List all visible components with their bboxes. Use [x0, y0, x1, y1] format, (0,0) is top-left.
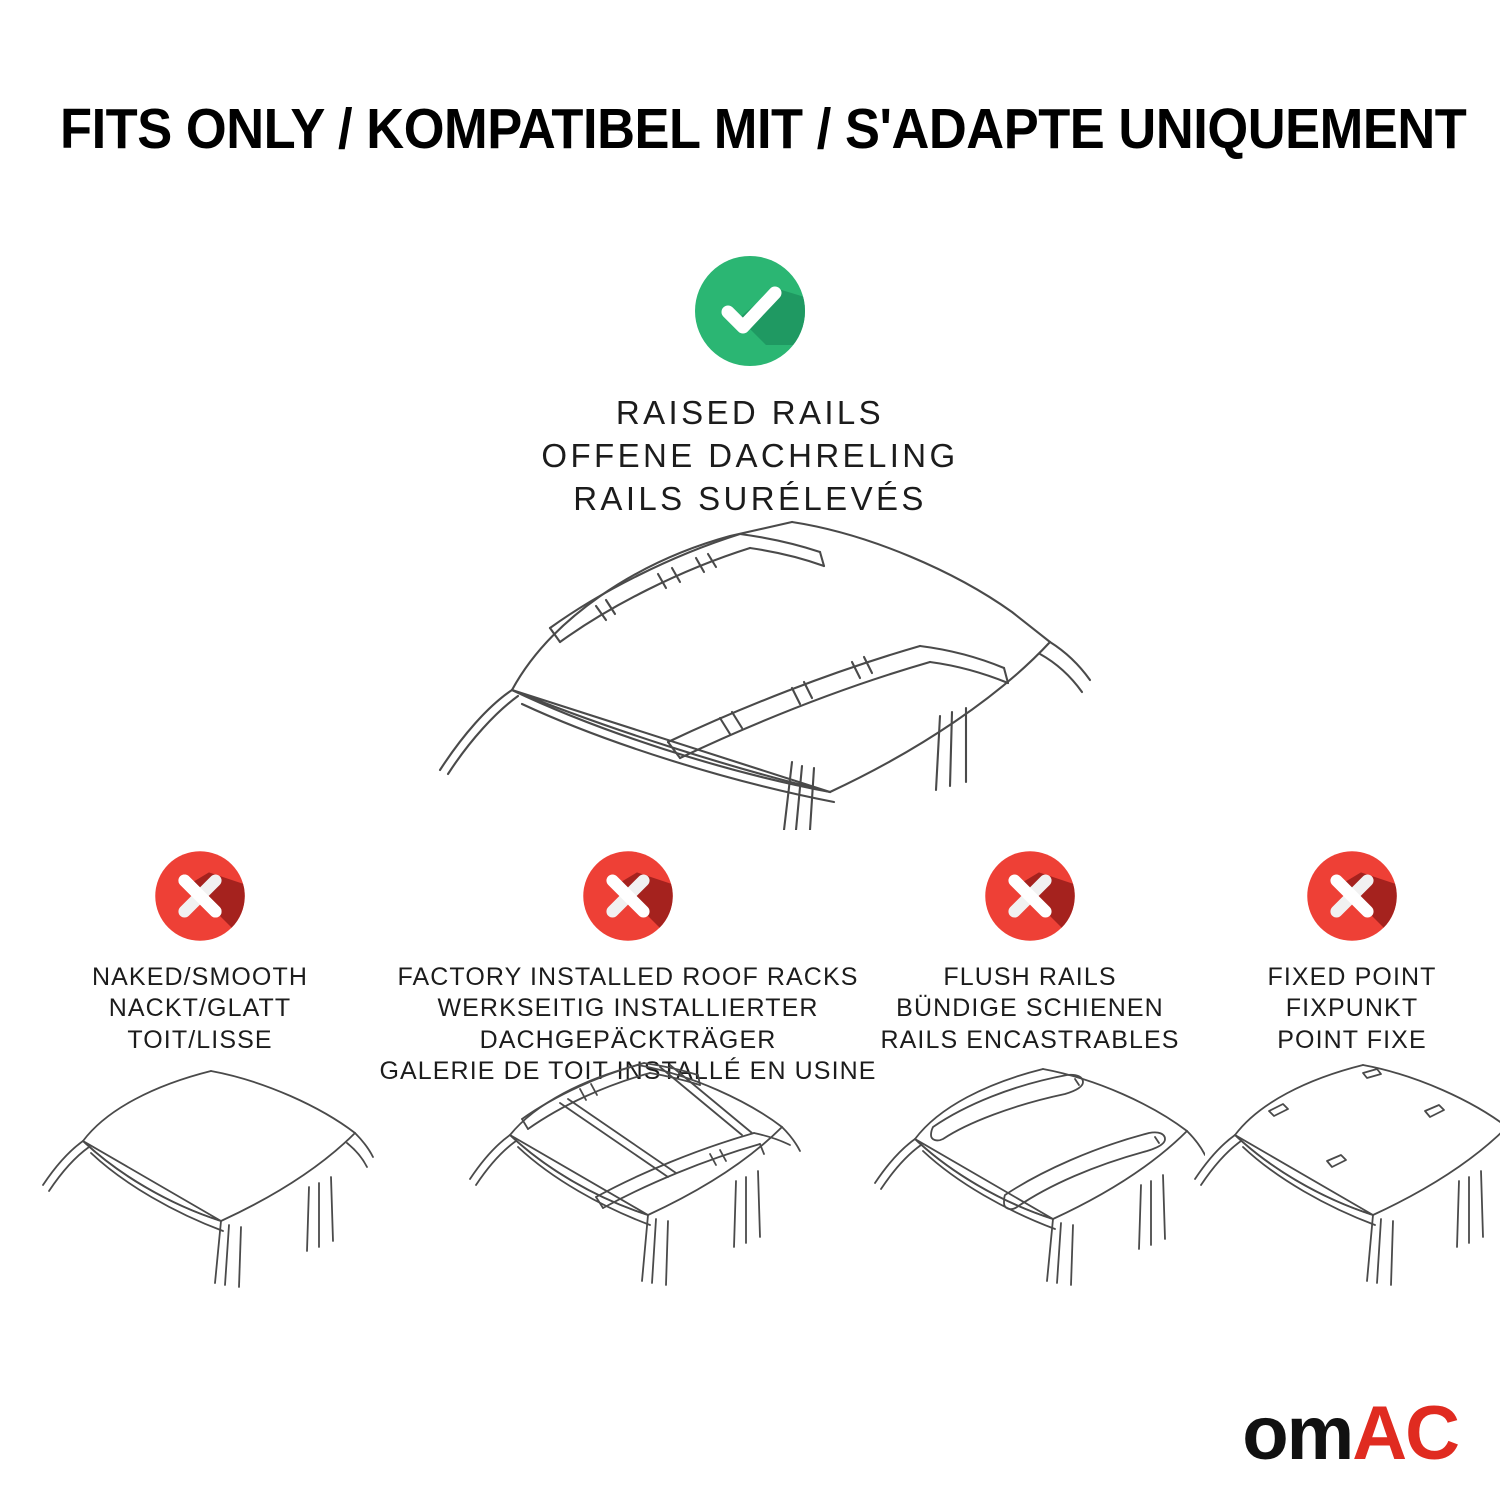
label-line: NAKED/SMOOTH — [92, 962, 308, 993]
label-line: TOIT/LISSE — [92, 1025, 308, 1056]
compatibility-infographic: FITS ONLY / KOMPATIBEL MIT / S'ADAPTE UN… — [0, 0, 1500, 1500]
incompatible-row: NAKED/SMOOTH NACKT/GLATT TOIT/LISSE FACT… — [0, 848, 1500, 1087]
incompatible-illustrations — [0, 1055, 1500, 1305]
label-line: POINT FIXE — [1267, 1025, 1436, 1056]
car-roof-fixed-point-diagram — [1187, 1055, 1500, 1295]
incompatible-labels: FIXED POINT FIXPUNKT POINT FIXE — [1267, 962, 1436, 1056]
compatible-badge-wrap — [0, 252, 1500, 370]
label-line: FIXED POINT — [1267, 962, 1436, 993]
label-line: FIXPUNKT — [1267, 993, 1436, 1024]
incompatible-item-factory-roof-racks: FACTORY INSTALLED ROOF RACKS WERKSEITIG … — [400, 848, 856, 1087]
x-circle-icon — [152, 848, 248, 944]
label-line: BÜNDIGE SCHIENEN — [880, 993, 1179, 1024]
label-line: WERKSEITIG INSTALLIERTER — [379, 993, 876, 1024]
car-roof-naked-smooth-diagram — [25, 1055, 375, 1295]
check-circle-icon — [691, 252, 809, 370]
car-roof-raised-rails-diagram — [400, 500, 1100, 830]
incompatible-labels: FLUSH RAILS BÜNDIGE SCHIENEN RAILS ENCAS… — [880, 962, 1179, 1056]
label-line: FLUSH RAILS — [880, 962, 1179, 993]
brand-logo: omAC — [1242, 1396, 1458, 1472]
label-line: NACKT/GLATT — [92, 993, 308, 1024]
illustration-cell — [0, 1055, 400, 1305]
x-circle-icon — [1304, 848, 1400, 944]
label-line: FACTORY INSTALLED ROOF RACKS — [379, 962, 876, 993]
compatible-label-de: OFFENE DACHRELING — [0, 435, 1500, 478]
incompatible-item-naked-smooth: NAKED/SMOOTH NACKT/GLATT TOIT/LISSE — [0, 848, 400, 1056]
compatible-illustration — [400, 500, 1100, 830]
x-circle-icon — [580, 848, 676, 944]
page-title: FITS ONLY / KOMPATIBEL MIT / S'ADAPTE UN… — [60, 100, 1440, 160]
incompatible-item-flush-rails: FLUSH RAILS BÜNDIGE SCHIENEN RAILS ENCAS… — [856, 848, 1204, 1056]
label-line: RAILS ENCASTRABLES — [880, 1025, 1179, 1056]
logo-text-accent: AC — [1352, 1396, 1458, 1472]
header: FITS ONLY / KOMPATIBEL MIT / S'ADAPTE UN… — [0, 100, 1500, 160]
illustration-cell — [400, 1055, 856, 1305]
x-circle-icon — [982, 848, 1078, 944]
illustration-cell — [1204, 1055, 1500, 1305]
car-roof-factory-racks-diagram — [448, 1055, 808, 1295]
car-roof-flush-rails-diagram — [855, 1055, 1205, 1295]
logo-text-dark: om — [1242, 1396, 1352, 1472]
compatible-label-en: RAISED RAILS — [0, 392, 1500, 435]
compatible-section: RAISED RAILS OFFENE DACHRELING RAILS SUR… — [0, 252, 1500, 521]
incompatible-item-fixed-point: FIXED POINT FIXPUNKT POINT FIXE — [1204, 848, 1500, 1056]
label-line: DACHGEPÄCKTRÄGER — [379, 1025, 876, 1056]
incompatible-labels: NAKED/SMOOTH NACKT/GLATT TOIT/LISSE — [92, 962, 308, 1056]
illustration-cell — [856, 1055, 1204, 1305]
